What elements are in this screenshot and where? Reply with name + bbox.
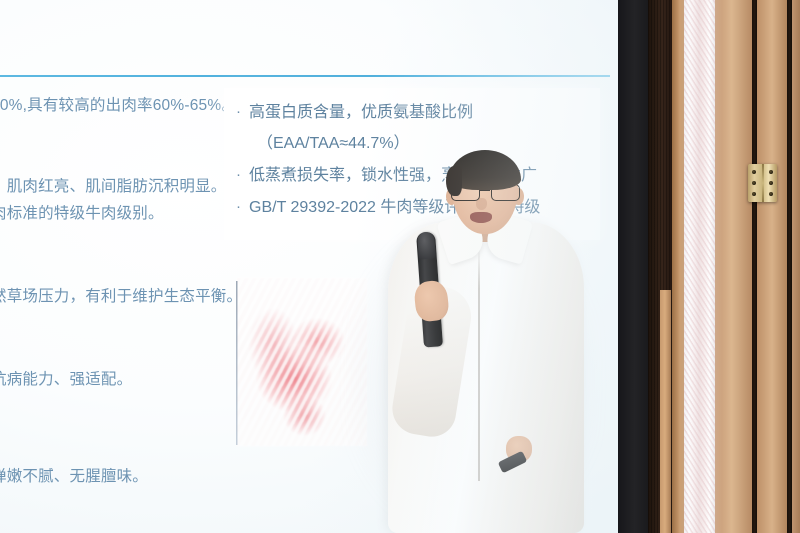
hinge-screw xyxy=(769,170,773,174)
speaker-mouth xyxy=(470,212,492,223)
hinge-screw xyxy=(769,192,773,196)
hinge-screw xyxy=(752,170,756,174)
speaker-hair xyxy=(449,150,521,190)
presentation-scene: 10%,具有较高的出肉率60%-65%。 、肌肉红亮、肌间脂肪沉积明显。 肉标准… xyxy=(0,0,800,533)
wall-slat xyxy=(792,0,800,533)
screen-bezel xyxy=(618,0,648,533)
speaker-figure xyxy=(370,150,610,533)
bullet-dot-icon: · xyxy=(236,103,249,122)
vertical-light-strip xyxy=(684,0,715,533)
slide-left-line-6: 弹嫩不腻、无腥膻味。 xyxy=(0,467,246,488)
slide-left-line-5: 抗病能力、强适配。 xyxy=(0,370,246,391)
hinge-screw xyxy=(752,192,756,196)
slide-left-line-1: 10%,具有较高的出肉率60%-65%。 xyxy=(0,96,246,117)
hinge-screw xyxy=(752,181,756,185)
slide-left-line-2: 、肌肉红亮、肌间脂肪沉积明显。 xyxy=(0,177,246,198)
slide-left-line-4: 然草场压力，有利于维护生态平衡。 xyxy=(0,287,246,308)
bullet-dot-icon: · xyxy=(236,166,249,185)
slide-bullet-1-text: 高蛋白质含量，优质氨基酸比例 xyxy=(249,103,473,122)
hinge-screw xyxy=(769,181,773,185)
door-hinge-icon xyxy=(748,164,777,202)
slide-divider-line xyxy=(0,75,610,77)
projection-screen: 10%,具有较高的出肉率60%-65%。 、肌肉红亮、肌间脂肪沉积明显。 肉标准… xyxy=(0,0,618,533)
slide-bullet-1: · 高蛋白质含量，优质氨基酸比例 xyxy=(236,103,606,122)
jacket-placket xyxy=(478,246,480,481)
slide-left-column: 10%,具有较高的出肉率60%-65%。 、肌肉红亮、肌间脂肪沉积明显。 肉标准… xyxy=(0,96,246,488)
bullet-dot-icon: · xyxy=(236,198,249,217)
hinge-seam xyxy=(762,164,764,202)
wall-panel-lip xyxy=(660,290,671,533)
wall-slat xyxy=(757,0,787,533)
wall-slat xyxy=(715,0,752,533)
slide-left-line-3: 肉标准的特级牛肉级别。 xyxy=(0,204,246,225)
